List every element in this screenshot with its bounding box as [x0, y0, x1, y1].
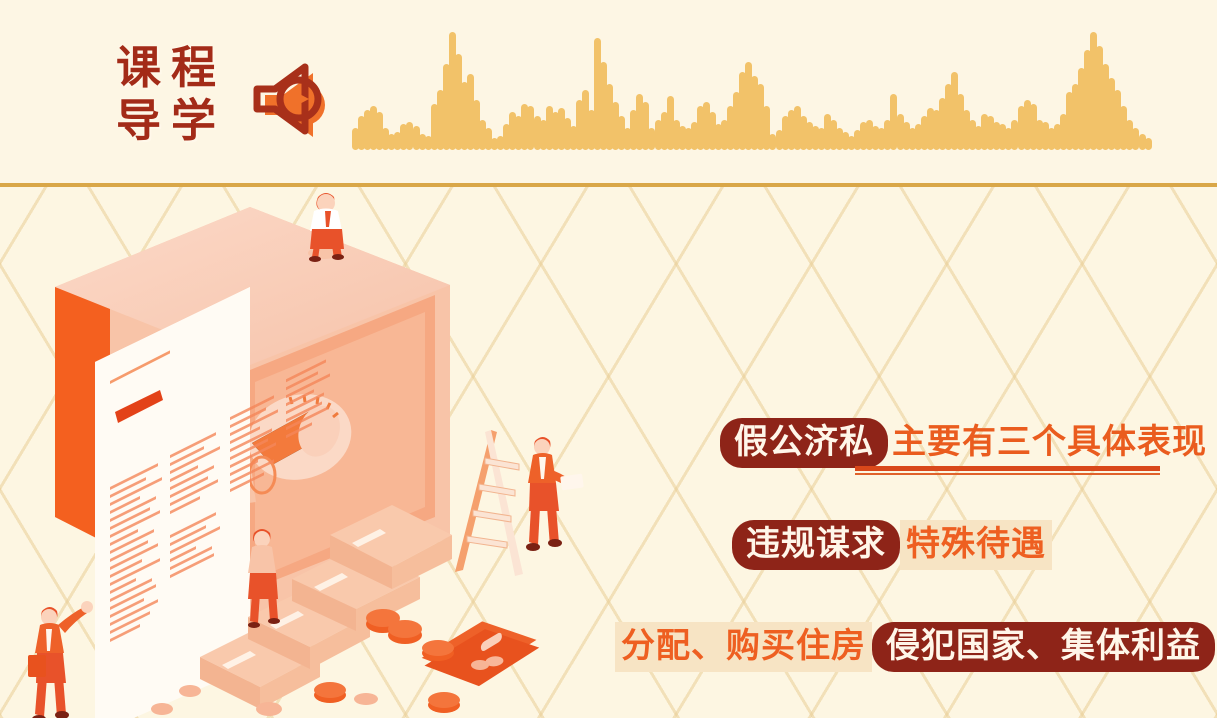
logo-char-4: 学 [165, 95, 220, 148]
text-lines: 假公济私 主要有三个具体表现 违规谋求 特殊待遇 分配、购买住房 侵犯国家、集体… [600, 374, 1217, 718]
line2-highlight: 特殊待遇 [900, 520, 1052, 570]
audio-waveform [352, 20, 1142, 150]
logo-char-2: 程 [165, 42, 220, 95]
course-guide-logo: 课 程 导 学 [110, 42, 220, 147]
speaker-play-icon[interactable] [243, 55, 335, 150]
line1-pill: 假公济私 [720, 418, 888, 468]
isometric-illustration [0, 187, 620, 718]
line2-pill: 违规谋求 [732, 520, 900, 570]
header-bar: 课 程 导 学 [0, 0, 1217, 185]
text-line-2: 违规谋求 特殊待遇 [732, 520, 1052, 570]
line1-underline [855, 466, 1160, 475]
line3-highlight: 分配、购买住房 [615, 622, 872, 672]
logo-char-1: 课 [110, 42, 165, 95]
content-area: 假公济私 主要有三个具体表现 违规谋求 特殊待遇 分配、购买住房 侵犯国家、集体… [0, 187, 1217, 718]
slide-canvas: 课 程 导 学 [0, 0, 1217, 718]
line1-plain: 主要有三个具体表现 [888, 418, 1211, 468]
waveform-bar [1145, 138, 1152, 150]
logo-char-3: 导 [110, 95, 165, 148]
line3-pill: 侵犯国家、集体利益 [872, 622, 1215, 672]
text-line-1: 假公济私 主要有三个具体表现 [720, 418, 1211, 468]
text-line-3: 分配、购买住房 侵犯国家、集体利益 [615, 622, 1215, 672]
